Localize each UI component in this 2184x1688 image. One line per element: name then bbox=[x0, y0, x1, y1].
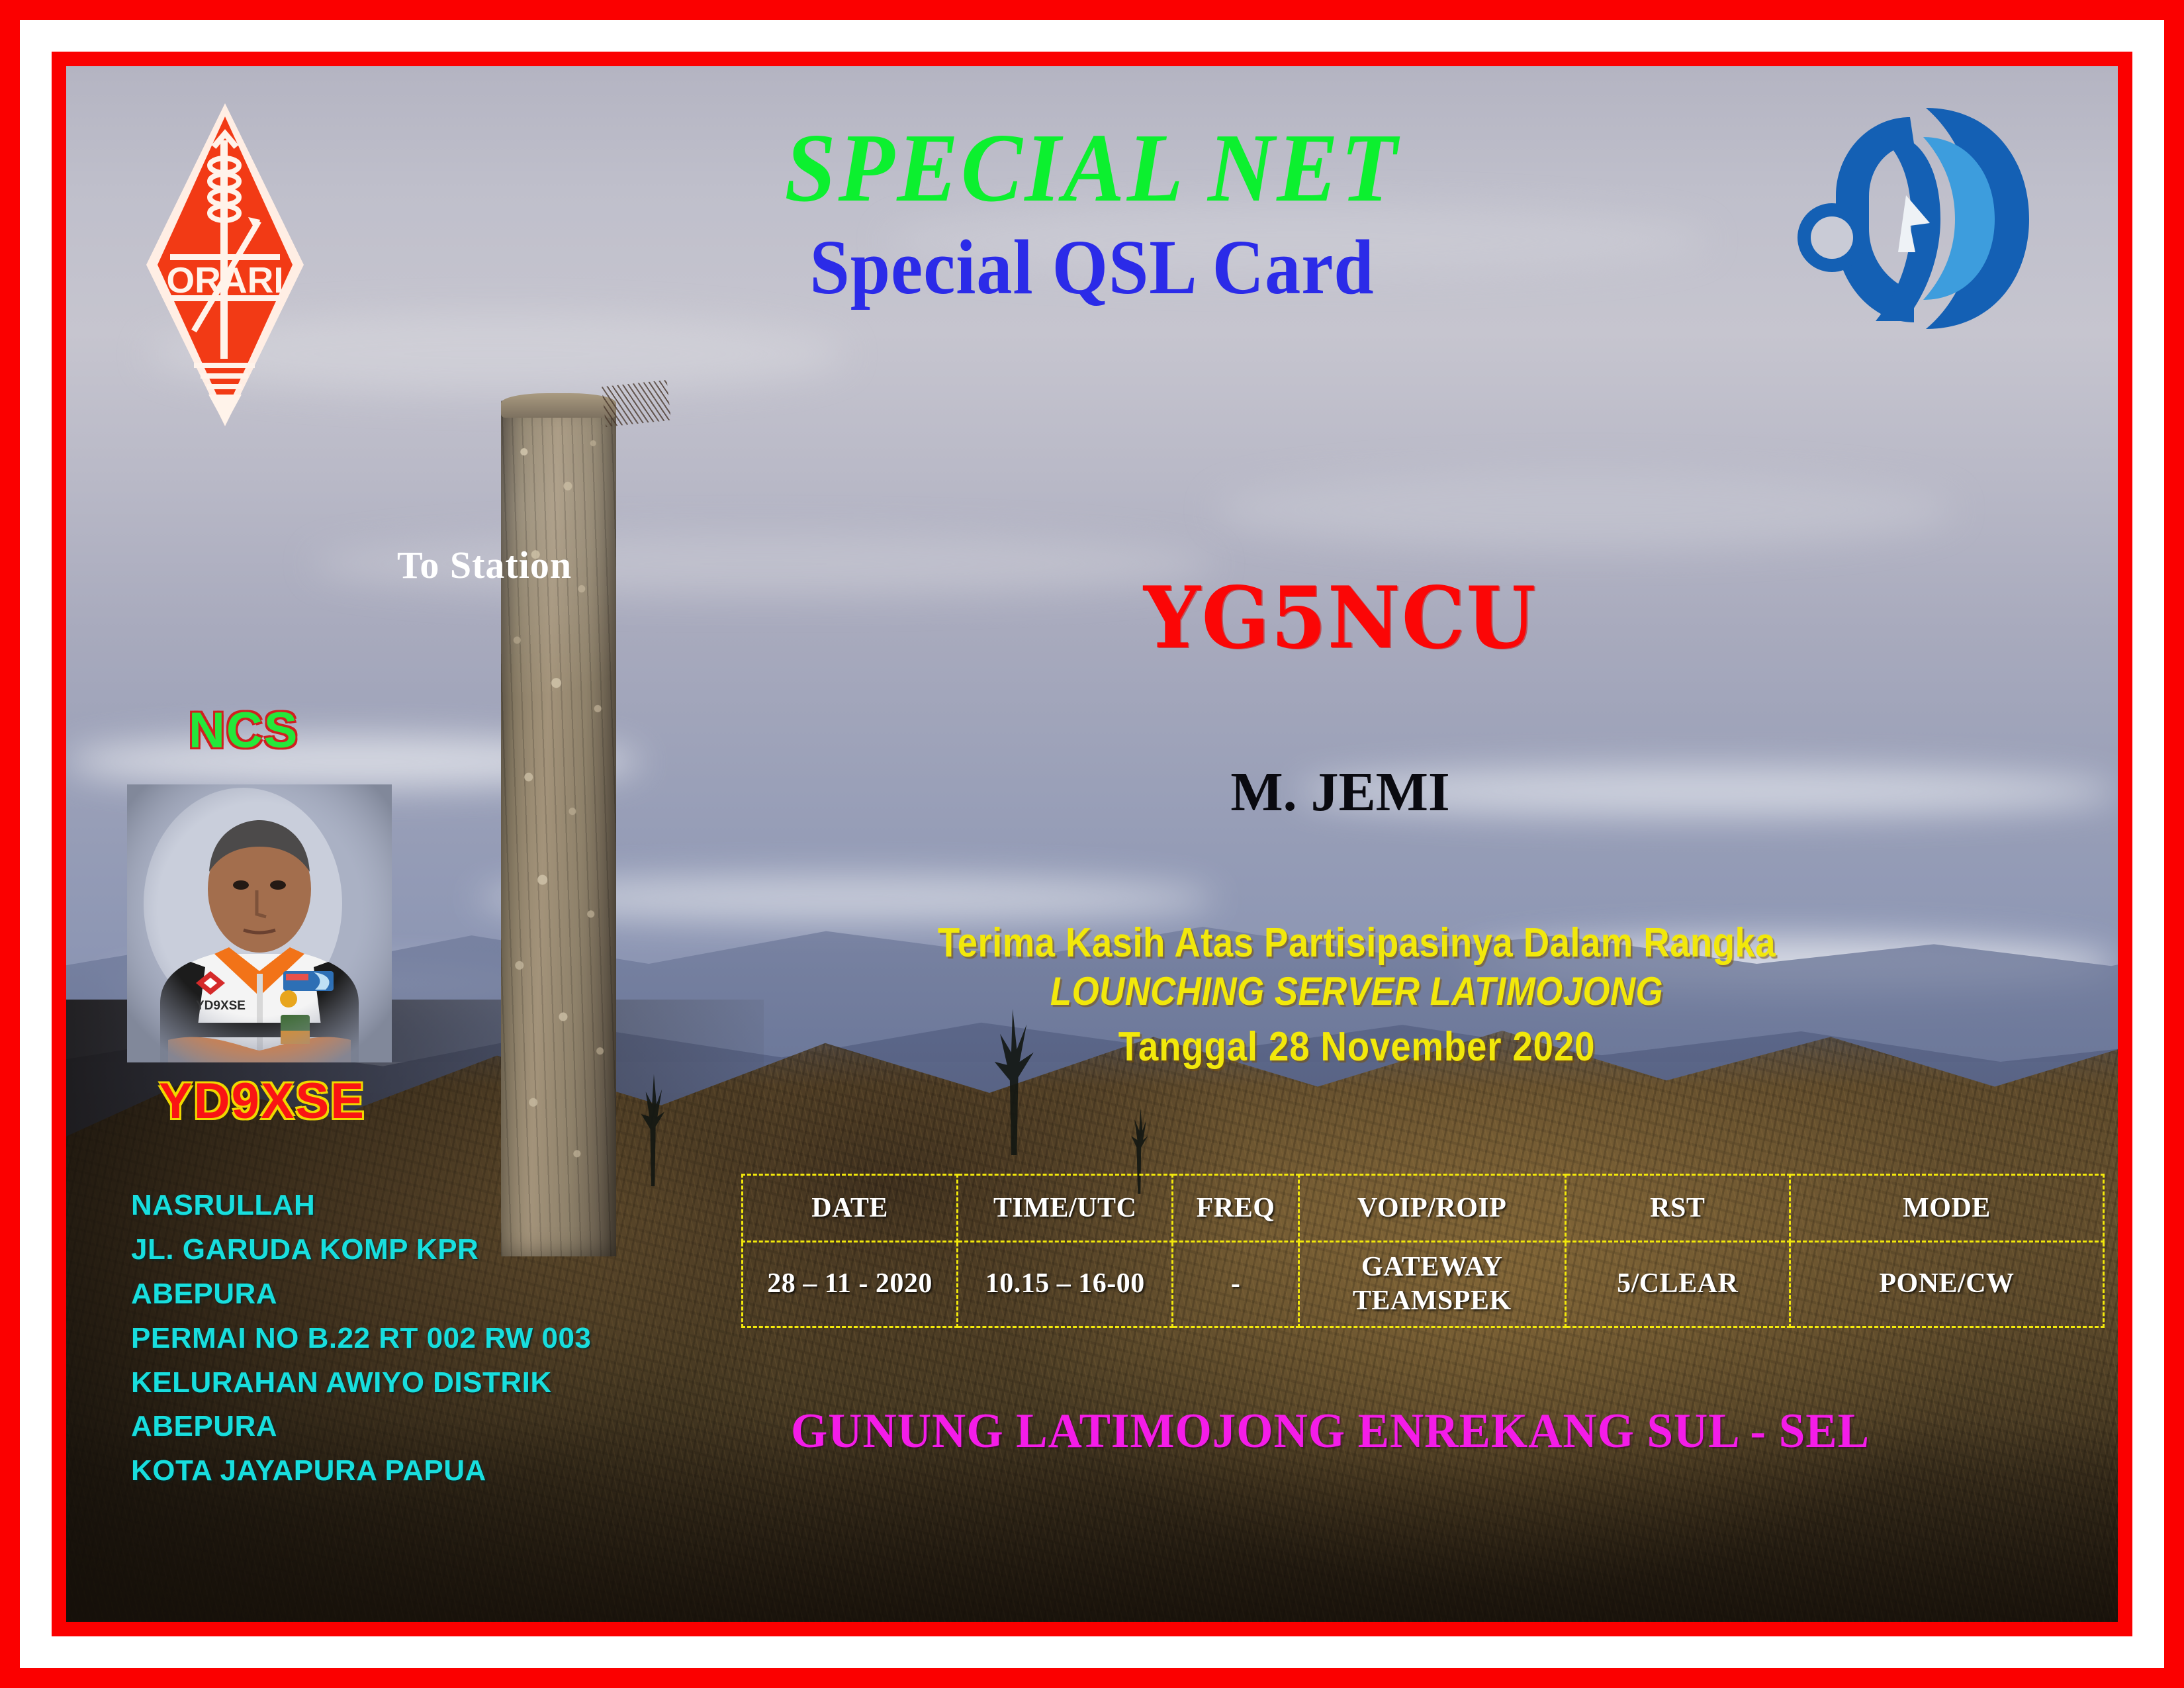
mailing-address-block: NASRULLAH JL. GARUDA KOMP KPR ABEPURA PE… bbox=[131, 1184, 591, 1493]
address-line: KOTA JAYAPURA PAPUA bbox=[131, 1449, 591, 1493]
address-line: NASRULLAH bbox=[131, 1184, 591, 1228]
thanks-line-1: Terima Kasih Atas Partisipasinya Dalam R… bbox=[833, 920, 1881, 966]
location-caption: GUNUNG LATIMOJONG ENREKANG SUL - SEL bbox=[727, 1403, 1934, 1460]
page-subtitle-qsl-card: Special QSL Card bbox=[148, 228, 2036, 306]
address-line: JL. GARUDA KOMP KPR bbox=[131, 1228, 591, 1272]
orari-ground-symbol bbox=[194, 363, 255, 389]
address-line: ABEPURA bbox=[131, 1405, 591, 1449]
column-header-time: TIME/UTC bbox=[958, 1175, 1173, 1242]
cell-rst: 5/CLEAR bbox=[1565, 1242, 1790, 1327]
qsl-card-outer-border: ORARI bbox=[0, 0, 2184, 1688]
address-line: KELURAHAN AWIYO DISTRIK bbox=[131, 1361, 591, 1405]
qsl-card-white-gap: ORARI bbox=[20, 20, 2164, 1668]
cell-mode: PONE/CW bbox=[1790, 1242, 2103, 1327]
thanks-message-block: Terima Kasih Atas Partisipasinya Dalam R… bbox=[761, 920, 1952, 1077]
station-callsign: YG5NCU bbox=[1014, 576, 1667, 661]
table-row: 28 – 11 - 2020 10.15 – 16-00 - GATEWAY T… bbox=[743, 1242, 2104, 1327]
cell-date: 28 – 11 - 2020 bbox=[743, 1242, 958, 1327]
qsl-card-inner-border: ORARI bbox=[52, 52, 2132, 1636]
table-header-row: DATE TIME/UTC FREQ VOIP/ROIP RST MODE bbox=[743, 1175, 2104, 1242]
operator-name: M. JEMI bbox=[993, 765, 1688, 820]
qsl-card-photo-area: ORARI bbox=[66, 66, 2118, 1622]
to-station-label: To Station bbox=[397, 543, 572, 587]
qso-log-table: DATE TIME/UTC FREQ VOIP/ROIP RST MODE 28… bbox=[741, 1174, 2105, 1328]
qsl-card-content: ORARI bbox=[66, 66, 2118, 1622]
cell-voip: GATEWAY TEAMSPEK bbox=[1298, 1242, 1565, 1327]
column-header-voip: VOIP/ROIP bbox=[1298, 1175, 1565, 1242]
ncs-operator-portrait: YD9XSE bbox=[127, 784, 392, 1062]
column-header-freq: FREQ bbox=[1173, 1175, 1299, 1242]
thanks-line-3-date: Tanggal 28 November 2020 bbox=[833, 1017, 1881, 1077]
ncs-label: NCS bbox=[189, 702, 298, 759]
address-line: ABEPURA bbox=[131, 1272, 591, 1317]
portrait-vignette bbox=[127, 784, 392, 1062]
column-header-date: DATE bbox=[743, 1175, 958, 1242]
ncs-callsign: YD9XSE bbox=[159, 1072, 365, 1130]
column-header-mode: MODE bbox=[1790, 1175, 2103, 1242]
cell-voip-line-1: GATEWAY bbox=[1300, 1250, 1565, 1284]
page-title-special-net: SPECIAL NET bbox=[128, 119, 2056, 217]
column-header-rst: RST bbox=[1565, 1175, 1790, 1242]
orari-diamond-point bbox=[208, 395, 242, 425]
thanks-line-2-event-name: LOUNCHING SERVER LATIMOJONG bbox=[833, 966, 1881, 1017]
cell-time: 10.15 – 16-00 bbox=[958, 1242, 1173, 1327]
cell-freq: - bbox=[1173, 1242, 1299, 1327]
cell-voip-line-2: TEAMSPEK bbox=[1300, 1284, 1565, 1318]
address-line: PERMAI NO B.22 RT 002 RW 003 bbox=[131, 1317, 591, 1361]
